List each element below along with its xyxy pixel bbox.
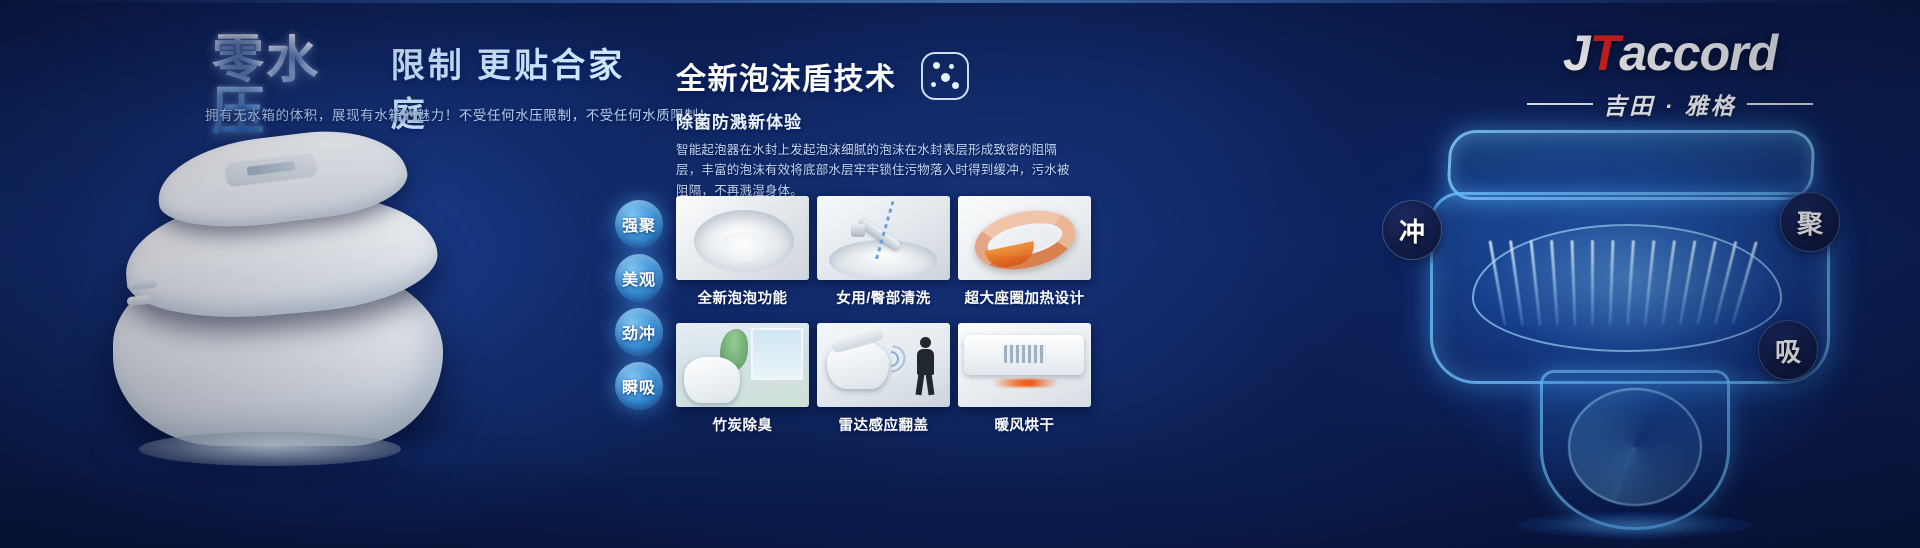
feature-grid-row-2: 竹炭除臭 雷达感应翻盖 暖风烘干: [676, 323, 1091, 435]
xray-flush-ribs: [1496, 240, 1766, 336]
feature-label: 雷达感应翻盖: [817, 414, 950, 435]
left-section: 零水压 限制 更贴合家庭 拥有无水箱的体积，展现有水箱的魅力！不受任何水压限制，…: [0, 0, 660, 548]
xray-badge-xi[interactable]: 吸: [1758, 320, 1818, 380]
feature-badge-qiangju[interactable]: 强聚: [615, 200, 663, 248]
logo-letters-accord: accord: [1619, 28, 1777, 78]
foam-tech-paragraph: 智能起泡器在水封上发起泡沫细腻的泡沫在水封表层形成致密的阻隔层，丰富的泡沫有效将…: [676, 140, 1081, 201]
feature-cell-wash[interactable]: 女用/臀部清洗: [817, 196, 950, 308]
right-section: J T accord 吉田 · 雅格: [1360, 0, 1920, 548]
foam-tech-subtitle: 除菌防溅新体验: [676, 108, 802, 133]
feature-badge-label: 劲冲: [622, 320, 656, 344]
logo-letter-j: J: [1563, 28, 1590, 78]
feature-label: 女用/臀部清洗: [817, 287, 950, 308]
feature-label: 超大座圈加热设计: [958, 287, 1091, 308]
xray-badge-label: 冲: [1399, 212, 1425, 249]
feature-badge-label: 瞬吸: [622, 374, 656, 398]
bamboo-charcoal-deodorize-photo: [676, 323, 809, 407]
xray-badge-chong[interactable]: 冲: [1382, 200, 1442, 260]
middle-section: 全新泡沫盾技术 除菌防溅新体验 智能起泡器在水封上发起泡沫细腻的泡沫在水封表层形…: [660, 0, 1360, 548]
radar-sensor-lid-photo: [817, 323, 950, 407]
feature-badge-shunxi[interactable]: 瞬吸: [615, 362, 663, 410]
logo-rule-right: [1747, 103, 1813, 105]
product-banner: 零水压 限制 更贴合家庭 拥有无水箱的体积，展现有水箱的魅力！不受任何水压限制，…: [0, 0, 1920, 548]
feature-cell-foam[interactable]: 全新泡泡功能: [676, 196, 809, 308]
feature-label: 竹炭除臭: [676, 414, 809, 435]
logo-letter-t: T: [1590, 28, 1620, 78]
warm-air-drying-photo: [958, 323, 1091, 407]
feature-label: 全新泡泡功能: [676, 287, 809, 308]
feature-badge-label: 美观: [622, 266, 656, 290]
xray-badge-label: 聚: [1797, 204, 1823, 241]
xray-lid: [1446, 130, 1816, 200]
foam-tech-title: 全新泡沫盾技术: [676, 54, 897, 98]
logo-chinese-name: 吉田 · 雅格: [1603, 87, 1736, 121]
foam-bowl-photo: [676, 196, 809, 280]
foam-tech-title-row: 全新泡沫盾技术: [676, 52, 969, 100]
logo-rule-left: [1527, 103, 1593, 105]
toilet-base: [139, 432, 401, 466]
logo-chinese-row: 吉田 · 雅格: [1500, 87, 1840, 121]
feature-cell-deodorize[interactable]: 竹炭除臭: [676, 323, 809, 435]
xray-badge-ju[interactable]: 聚: [1780, 192, 1840, 252]
feature-cell-warm-dry[interactable]: 暖风烘干: [958, 323, 1091, 435]
feature-grid-row-1: 全新泡泡功能 女用/臀部清洗 超大座圈加热设计: [676, 196, 1091, 308]
heated-seat-ring-photo: [958, 196, 1091, 280]
feature-grid: 全新泡泡功能 女用/臀部清洗 超大座圈加热设计: [676, 196, 1091, 435]
bubble-shield-icon: [921, 52, 969, 100]
logo-wordmark: J T accord: [1500, 28, 1840, 78]
feature-badge-meiguan[interactable]: 美观: [615, 254, 663, 302]
xray-water-swirl: [1568, 388, 1702, 506]
headline-description: 拥有无水箱的体积，展现有水箱的魅力！不受任何水压限制，不受任何水质限制！: [205, 104, 713, 124]
feature-cell-heated-seat[interactable]: 超大座圈加热设计: [958, 196, 1091, 308]
xray-base-glow: [1518, 512, 1752, 538]
feature-cell-radar-lid[interactable]: 雷达感应翻盖: [817, 323, 950, 435]
feature-badge-label: 强聚: [622, 212, 656, 236]
xray-badge-label: 吸: [1775, 332, 1801, 369]
washing-nozzle-photo: [817, 196, 950, 280]
feature-badge-jingchong[interactable]: 劲冲: [615, 308, 663, 356]
smart-toilet-product-image: [105, 130, 495, 460]
brand-logo[interactable]: J T accord 吉田 · 雅格: [1500, 28, 1840, 121]
feature-label: 暖风烘干: [958, 414, 1091, 435]
